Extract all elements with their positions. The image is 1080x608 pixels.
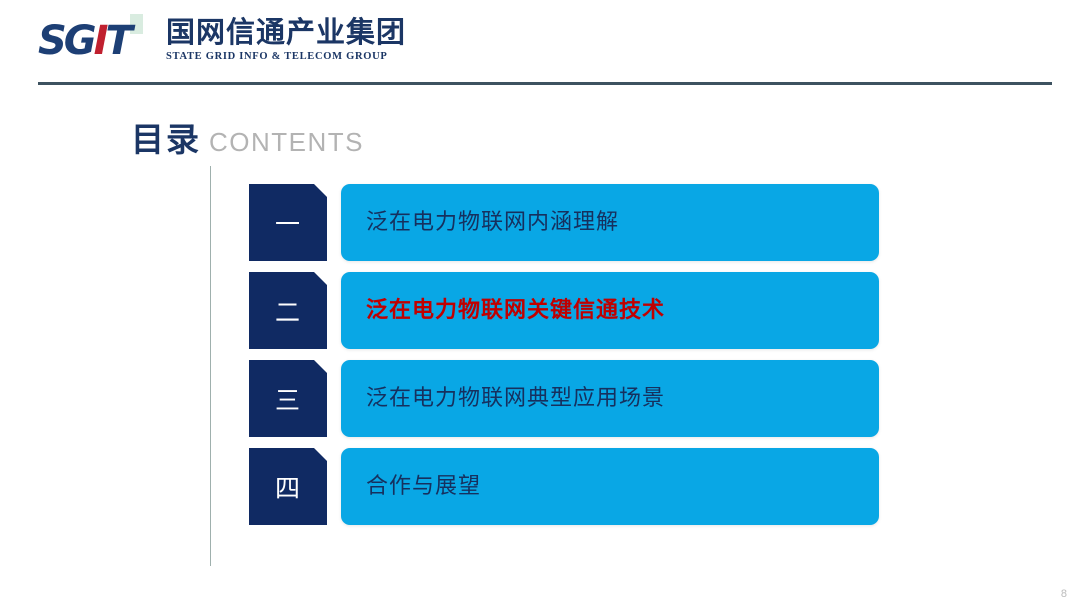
brand-header: SGIT 国网信通产业集团 STATE GRID INFO & TELECOM … bbox=[38, 14, 406, 76]
contents-list: 一 泛在电力物联网内涵理解 二 泛在电力物联网关键信通技术 三 泛在电力物联网典… bbox=[249, 184, 879, 525]
item-bar[interactable]: 泛在电力物联网典型应用场景 bbox=[341, 360, 879, 437]
list-item[interactable]: 二 泛在电力物联网关键信通技术 bbox=[249, 272, 879, 349]
list-item[interactable]: 四 合作与展望 bbox=[249, 448, 879, 525]
logo-wordmark-prefix: SG bbox=[38, 18, 94, 64]
item-number-badge: 二 bbox=[249, 272, 327, 349]
page-title-cn: 目录 bbox=[131, 122, 201, 158]
logo-wordmark-accent: I bbox=[94, 18, 106, 64]
vertical-divider bbox=[210, 166, 211, 566]
list-item[interactable]: 三 泛在电力物联网典型应用场景 bbox=[249, 360, 879, 437]
header-divider bbox=[38, 82, 1052, 85]
item-bar[interactable]: 合作与展望 bbox=[341, 448, 879, 525]
logo-wordmark: SGIT bbox=[38, 20, 130, 62]
page-number: 8 bbox=[1061, 588, 1067, 601]
sgit-logo-mark: SGIT bbox=[38, 14, 156, 68]
brand-name-block: 国网信通产业集团 STATE GRID INFO & TELECOM GROUP bbox=[166, 14, 406, 64]
item-label: 合作与展望 bbox=[366, 474, 481, 500]
page-title: 目录 CONTENTS bbox=[131, 122, 364, 158]
item-label: 泛在电力物联网典型应用场景 bbox=[366, 386, 665, 412]
logo-green-square-icon bbox=[130, 14, 143, 34]
item-bar[interactable]: 泛在电力物联网内涵理解 bbox=[341, 184, 879, 261]
item-label: 泛在电力物联网内涵理解 bbox=[366, 210, 619, 236]
slide-canvas: SGIT 国网信通产业集团 STATE GRID INFO & TELECOM … bbox=[0, 0, 1080, 608]
company-name-cn: 国网信通产业集团 bbox=[166, 16, 406, 49]
item-number-badge: 一 bbox=[249, 184, 327, 261]
item-number-badge: 三 bbox=[249, 360, 327, 437]
logo-wordmark-suffix: T bbox=[106, 18, 130, 64]
list-item[interactable]: 一 泛在电力物联网内涵理解 bbox=[249, 184, 879, 261]
item-label: 泛在电力物联网关键信通技术 bbox=[366, 298, 665, 324]
item-number-badge: 四 bbox=[249, 448, 327, 525]
item-bar[interactable]: 泛在电力物联网关键信通技术 bbox=[341, 272, 879, 349]
page-title-en: CONTENTS bbox=[209, 127, 364, 157]
company-name-en: STATE GRID INFO & TELECOM GROUP bbox=[166, 50, 406, 64]
